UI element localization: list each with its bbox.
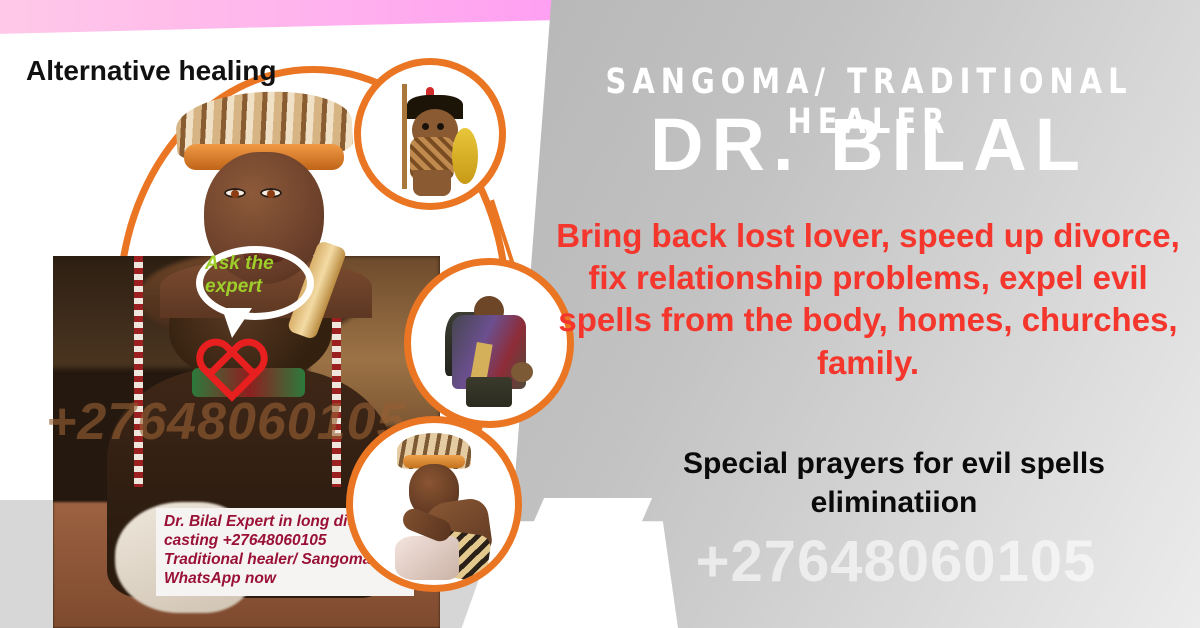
portrait-pupil-right — [267, 190, 275, 198]
services-text: Bring back lost lover, speed up divorce,… — [538, 215, 1198, 384]
circle-zulu-warrior — [354, 58, 506, 210]
warrior-legs — [413, 170, 451, 196]
page-title: Alternative healing — [26, 55, 277, 87]
photo-bead-strip-left — [134, 256, 143, 487]
warrior-eye-left — [422, 123, 429, 130]
warrior-spear-icon — [402, 84, 407, 189]
phone-watermark: +27648060105 — [596, 528, 1196, 595]
healer-name: DR. BILAL — [556, 108, 1182, 182]
speech-bubble-tail — [222, 308, 252, 338]
warrior-eye-right — [437, 123, 444, 130]
diviner-legs — [466, 377, 512, 407]
bottom-left-gray-block — [0, 500, 56, 628]
portrait-pupil-left — [231, 190, 239, 198]
pink-gradient-bar — [0, 0, 600, 34]
poster-canvas: +27648060105 Ask the expert Dr. Bilal Ex… — [0, 0, 1200, 628]
special-prayers-text: Special prayers for evil spells eliminat… — [596, 444, 1192, 522]
warrior-shield-icon — [452, 128, 478, 184]
kneeling-cloth — [395, 536, 459, 580]
speech-bubble-text: Ask the expert — [205, 252, 309, 298]
circle-kneeling-sangoma — [346, 416, 522, 592]
diviner-bag — [511, 362, 533, 382]
